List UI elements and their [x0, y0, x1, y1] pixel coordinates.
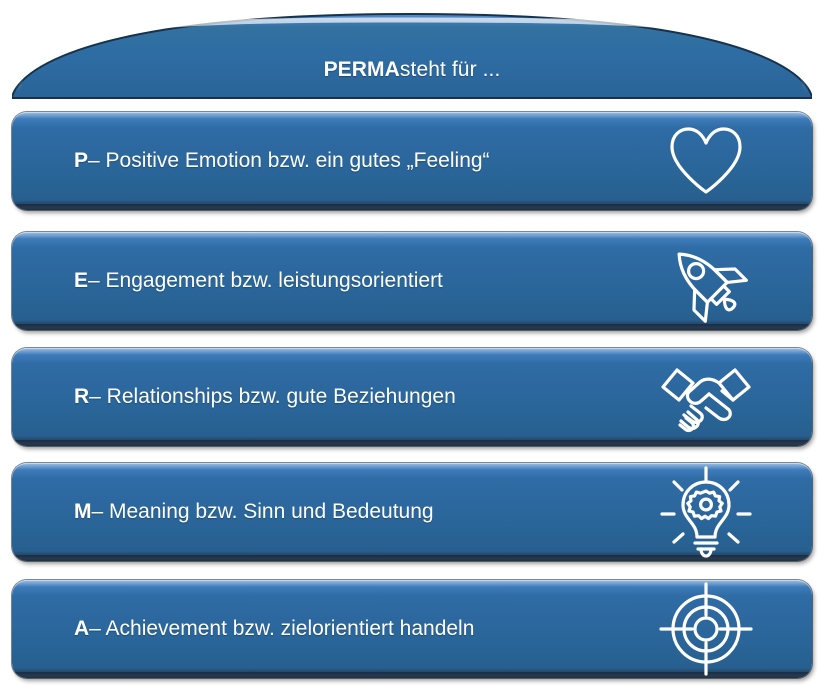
row-description: – Relationships bzw. gute Beziehungen: [89, 385, 456, 409]
perma-row-r[interactable]: R – Relationships bzw. gute Beziehungen: [12, 348, 812, 446]
target-icon: [658, 580, 754, 678]
row-label: E – Engagement bzw. leistungsorientiert: [74, 232, 443, 330]
row-letter: P: [74, 149, 88, 173]
row-letter: R: [74, 385, 89, 409]
row-letter: A: [74, 617, 89, 641]
row-description: – Positive Emotion bzw. ein gutes „Feeli…: [88, 149, 490, 173]
header-arch: PERMA steht für ...: [12, 12, 812, 100]
perma-infographic: PERMA steht für ... P – Positive Emotion…: [0, 0, 825, 694]
row-letter: E: [74, 269, 88, 293]
handshake-icon: [658, 348, 754, 446]
row-label: A – Achievement bzw. zielorientiert hand…: [74, 580, 474, 678]
perma-row-m[interactable]: M – Meaning bzw. Sinn und Bedeutung: [12, 463, 812, 561]
row-letter: M: [74, 500, 92, 524]
row-description: – Meaning bzw. Sinn und Bedeutung: [92, 500, 434, 524]
arch-shape: [12, 12, 812, 100]
perma-row-e[interactable]: E – Engagement bzw. leistungsorientiert: [12, 232, 812, 330]
row-label: P – Positive Emotion bzw. ein gutes „Fee…: [74, 112, 490, 210]
perma-row-a[interactable]: A – Achievement bzw. zielorientiert hand…: [12, 580, 812, 678]
heart-icon: [658, 112, 754, 210]
perma-row-p[interactable]: P – Positive Emotion bzw. ein gutes „Fee…: [12, 112, 812, 210]
row-description: – Engagement bzw. leistungsorientiert: [88, 269, 443, 293]
lightbulb-gear-icon: [658, 463, 754, 561]
rocket-icon: [658, 232, 754, 330]
row-label: R – Relationships bzw. gute Beziehungen: [74, 348, 456, 446]
row-description: – Achievement bzw. zielorientiert handel…: [89, 617, 474, 641]
row-label: M – Meaning bzw. Sinn und Bedeutung: [74, 463, 434, 561]
